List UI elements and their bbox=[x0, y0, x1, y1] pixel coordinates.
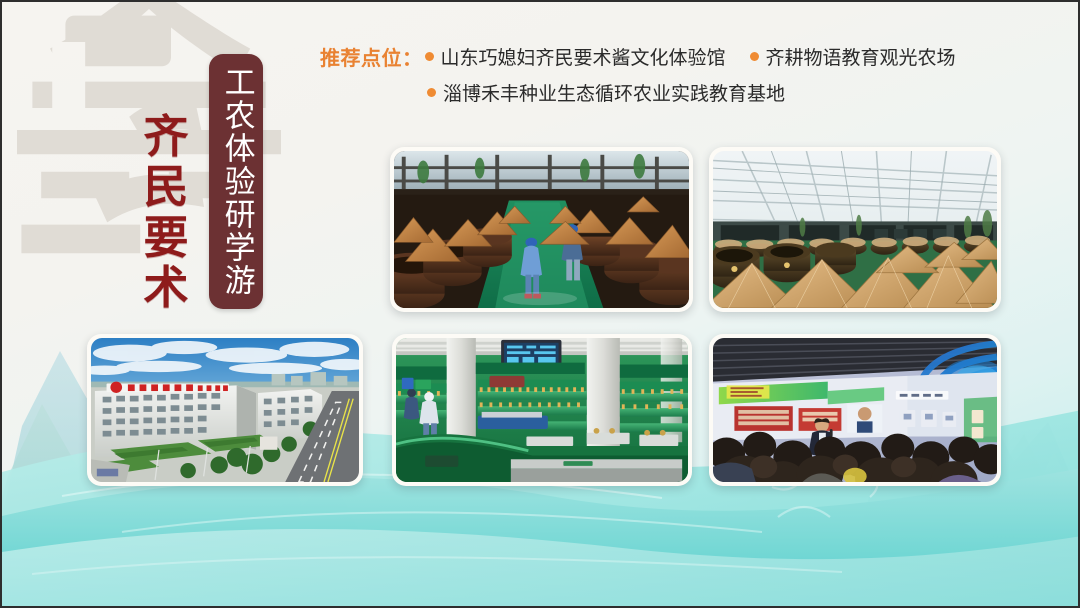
vertical-banner: 工农体验研学游 bbox=[209, 54, 263, 309]
calligraphy-char-2: 民 bbox=[143, 162, 188, 212]
slide-canvas: 齐 民 要 术 工农体验研学游 推荐点位： 山东巧媳妇齐民要术酱文化体验馆 齐耕… bbox=[0, 0, 1080, 608]
recommended-spots-label: 推荐点位： bbox=[320, 42, 423, 71]
calligraphy-char-3: 要 bbox=[143, 213, 188, 263]
photo-inner bbox=[713, 151, 997, 308]
photo-exhibition-hall-tour[interactable] bbox=[709, 334, 1001, 486]
photo-sun-fermentation-yard[interactable] bbox=[709, 147, 1001, 312]
bullet-dot-icon bbox=[427, 88, 436, 97]
spot-item[interactable]: 齐耕物语教育观光农场 bbox=[766, 43, 956, 70]
photo-inner bbox=[713, 338, 997, 482]
spot-item[interactable]: 淄博禾丰种业生态循环农业实践教育基地 bbox=[443, 79, 785, 106]
photo-inner bbox=[91, 338, 359, 482]
spot-item[interactable]: 山东巧媳妇齐民要术酱文化体验馆 bbox=[441, 43, 726, 70]
recommended-spots-row-1: 推荐点位： 山东巧媳妇齐民要术酱文化体验馆 齐耕物语教育观光农场 bbox=[320, 42, 1030, 71]
vertical-banner-label: 工农体验研学游 bbox=[218, 66, 253, 297]
photo-company-campus-aerial[interactable] bbox=[87, 334, 363, 486]
bullet-dot-icon bbox=[425, 52, 434, 61]
photo-inner bbox=[396, 338, 688, 482]
calligraphy-char-1: 齐 bbox=[143, 112, 188, 162]
recommended-spots-header: 推荐点位： 山东巧媳妇齐民要术酱文化体验馆 齐耕物语教育观光农场 淄博禾丰种业生… bbox=[320, 42, 1030, 114]
recommended-spots-row-2: 淄博禾丰种业生态循环农业实践教育基地 bbox=[320, 79, 1030, 106]
photo-fermentation-workshop[interactable] bbox=[390, 147, 693, 312]
calligraphy-char-4: 术 bbox=[143, 263, 188, 313]
bullet-dot-icon bbox=[750, 52, 759, 61]
page-title-calligraphy: 齐 民 要 术 bbox=[136, 112, 196, 314]
photo-inner bbox=[394, 151, 689, 308]
photo-production-line[interactable] bbox=[392, 334, 692, 486]
